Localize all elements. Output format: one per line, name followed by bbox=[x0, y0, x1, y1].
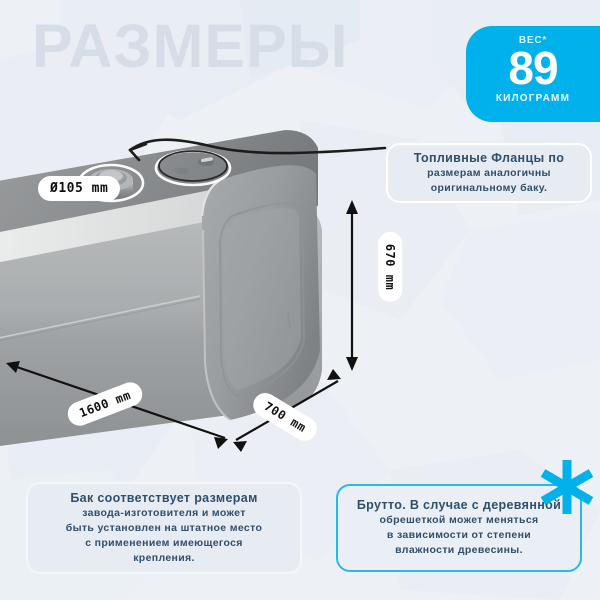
callout-flange: Топливные Фланцы по размерам аналогичны … bbox=[386, 143, 592, 203]
weight-badge: ВЕС* 89 КИЛОГРАММ bbox=[466, 26, 600, 122]
callout-left-line-1: Бак соответствует размерам bbox=[66, 491, 262, 506]
page-title: РАЗМЕРЫ bbox=[32, 16, 349, 77]
callout-flange-line-2: размерам аналогичны bbox=[414, 166, 564, 181]
callout-left-line-5: крепления. bbox=[66, 551, 262, 566]
callout-left-line-3: быть установлен на штатное место bbox=[66, 521, 262, 536]
fuel-tank-illustration bbox=[0, 120, 380, 450]
callout-right-line-1: Брутто. В случае с деревянной bbox=[357, 498, 561, 513]
asterisk-icon bbox=[538, 458, 596, 516]
infographic-canvas: РАЗМЕРЫ ВЕС* 89 КИЛОГРАММ bbox=[0, 0, 600, 600]
weight-badge-unit: КИЛОГРАММ bbox=[466, 93, 600, 104]
callout-flange-line-1: Топливные Фланцы по bbox=[414, 151, 564, 166]
callout-right-line-3: в зависимости от степени bbox=[357, 528, 561, 543]
callout-right-line-2: обрешеткой может меняться bbox=[357, 513, 561, 528]
callout-flange-line-3: оригинальному баку. bbox=[414, 181, 564, 196]
callout-right-line-4: влажности древесины. bbox=[357, 543, 561, 558]
callout-factory-dimensions: Бак соответствует размерам завода-изгото… bbox=[26, 482, 302, 574]
callout-left-line-4: с применением имеющегося bbox=[66, 536, 262, 551]
fuel-tank-drawing bbox=[0, 120, 380, 450]
dimension-label-height: 670 mm bbox=[378, 232, 402, 302]
callout-left-line-2: завода-изготовителя и может bbox=[66, 506, 262, 521]
dimension-label-diameter: Ø105 mm bbox=[38, 176, 120, 201]
weight-badge-value: 89 bbox=[466, 45, 600, 91]
